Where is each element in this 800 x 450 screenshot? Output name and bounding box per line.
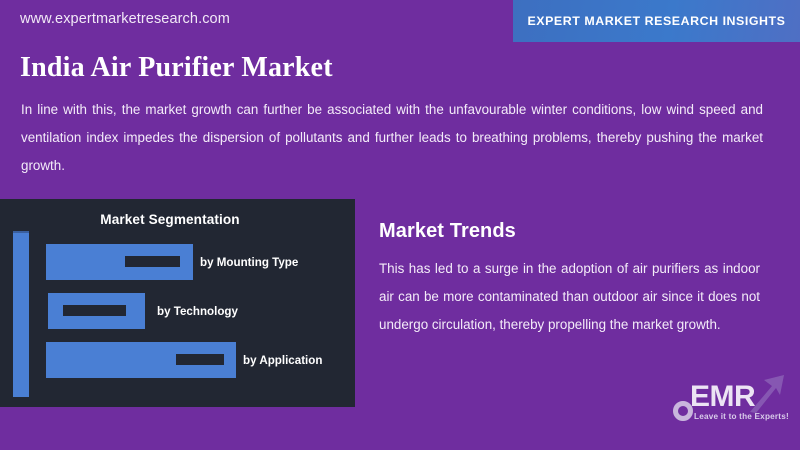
insights-banner-label: EXPERT MARKET RESEARCH INSIGHTS [527,14,785,28]
lead-paragraph: In line with this, the market growth can… [21,96,763,180]
segmentation-label-application: by Application [243,354,322,367]
segmentation-bar-application [46,342,236,378]
segmentation-title: Market Segmentation [0,212,340,227]
segmentation-label-mounting-type: by Mounting Type [200,256,298,269]
emr-tagline: Leave it to the Experts! [694,412,789,421]
segmentation-bar-mounting-type [46,244,193,280]
chart-axis-bar [13,231,29,397]
segmentation-label-technology: by Technology [157,305,238,318]
market-trends-title: Market Trends [379,220,516,243]
emr-wordmark: EMR [690,382,755,412]
page-title: India Air Purifier Market [20,52,333,84]
slide-canvas: www.expertmarketresearch.com EXPERT MARK… [0,0,800,450]
insights-banner: EXPERT MARKET RESEARCH INSIGHTS [513,0,800,42]
emr-logo: EMR Leave it to the Experts! [668,372,792,434]
segmentation-bar-technology [48,293,145,329]
market-segmentation-panel: Market Segmentation by Mounting Type by … [0,199,355,407]
bar-notch [125,256,180,267]
site-url: www.expertmarketresearch.com [20,11,230,27]
market-trends-paragraph: This has led to a surge in the adoption … [379,255,760,339]
bar-notch [176,354,224,365]
bar-notch [63,305,126,316]
